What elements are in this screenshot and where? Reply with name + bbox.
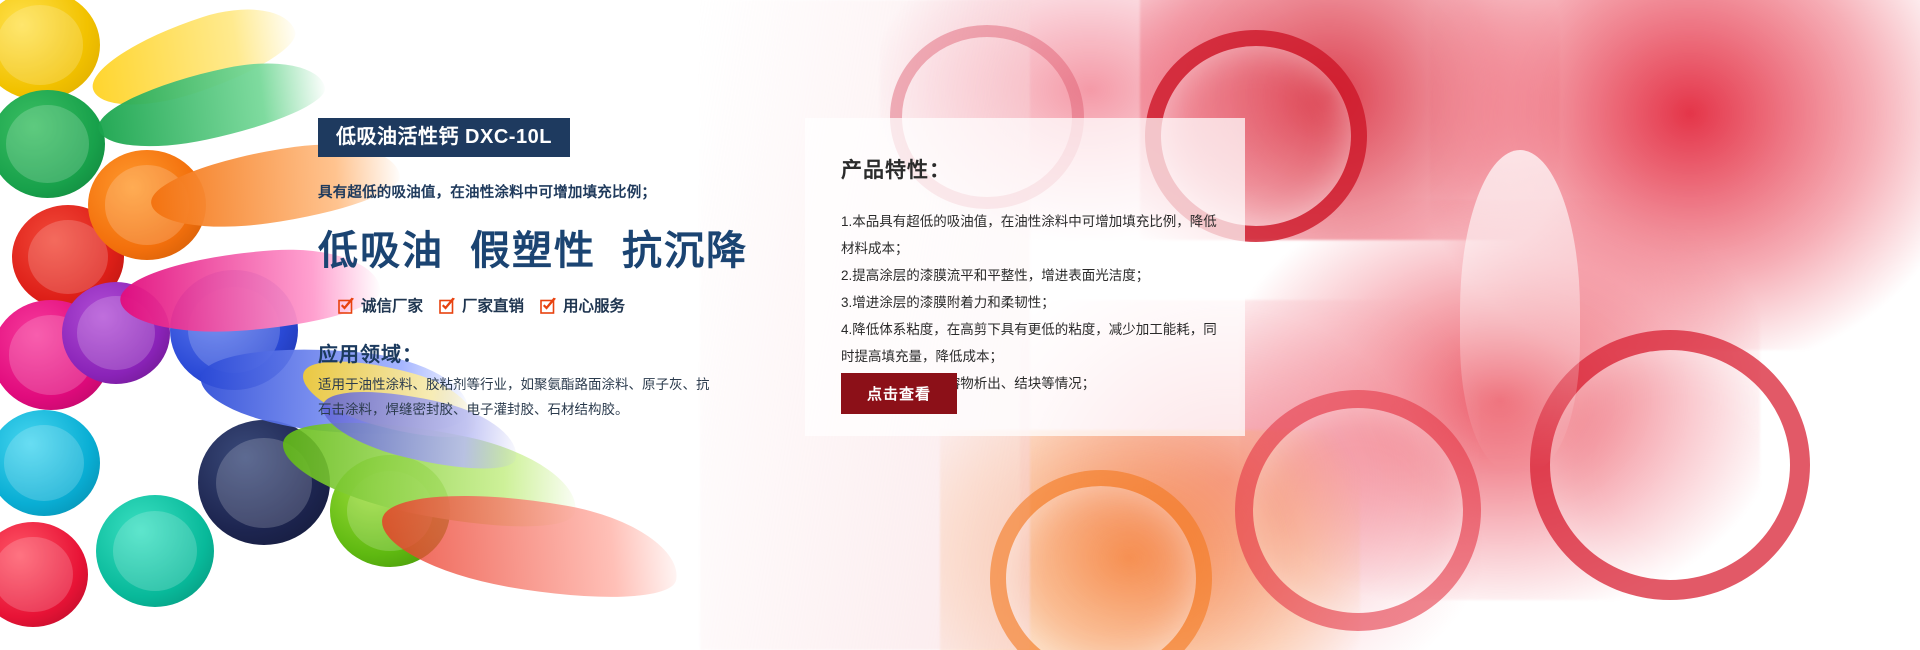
paint-can-teal bbox=[96, 495, 214, 607]
feature-label-1: 诚信厂家 bbox=[361, 294, 423, 316]
paint-can-yellow bbox=[0, 0, 100, 100]
headline-word-2: 假塑性 bbox=[470, 229, 596, 273]
left-content-column: 低吸油活性钙 DXC-10L 具有超低的吸油值，在油性涂料中可增加填充比例； 低… bbox=[318, 118, 738, 423]
headline-word-3: 抗沉降 bbox=[622, 229, 748, 273]
list-item: 1.本品具有超低的吸油值，在油性涂料中可增加填充比例，降低材料成本； bbox=[841, 208, 1219, 262]
paint-drip-white-right bbox=[1460, 150, 1580, 470]
headline-keywords: 低吸油假塑性抗沉降 bbox=[318, 218, 738, 276]
paint-can-navy bbox=[198, 420, 330, 545]
paint-can-orange bbox=[88, 150, 206, 260]
paint-jar-ring-right bbox=[1530, 330, 1810, 600]
list-item: 3.增进涂层的漆膜附着力和柔韧性； bbox=[841, 289, 1219, 316]
feature-item-1: 诚信厂家 bbox=[338, 294, 423, 316]
characteristics-list: 1.本品具有超低的吸油值，在油性涂料中可增加填充比例，降低材料成本； 2.提高涂… bbox=[841, 208, 1219, 397]
product-subtitle: 具有超低的吸油值，在油性涂料中可增加填充比例； bbox=[318, 181, 738, 202]
product-title-badge: 低吸油活性钙 DXC-10L bbox=[318, 118, 570, 157]
checkbox-checked-icon bbox=[439, 297, 456, 314]
view-details-button[interactable]: 点击查看 bbox=[841, 373, 957, 414]
paint-can-crimson bbox=[0, 522, 88, 627]
product-banner: 低吸油活性钙 DXC-10L 具有超低的吸油值，在油性涂料中可增加填充比例； 低… bbox=[0, 0, 1920, 650]
checkbox-checked-icon bbox=[540, 297, 557, 314]
feature-label-3: 用心服务 bbox=[563, 294, 625, 316]
paint-wash-red-right bbox=[1430, 0, 1920, 350]
paint-wash-red-mid bbox=[1240, 200, 1760, 600]
feature-item-2: 厂家直销 bbox=[439, 294, 524, 316]
paint-jar-ring-bottom-mid bbox=[1235, 390, 1481, 631]
feature-label-2: 厂家直销 bbox=[462, 294, 524, 316]
product-characteristics-panel: 产品特性： 1.本品具有超低的吸油值，在油性涂料中可增加填充比例，降低材料成本；… bbox=[805, 118, 1245, 436]
list-item: 4.降低体系粘度，在高剪下具有更低的粘度，减少加工能耗，同时提高填充量，降低成本… bbox=[841, 316, 1219, 370]
paint-stroke-yellow bbox=[82, 0, 303, 123]
paint-can-red bbox=[12, 205, 124, 309]
paint-jar-ring-orange bbox=[990, 470, 1212, 650]
feature-item-3: 用心服务 bbox=[540, 294, 625, 316]
panel-title: 产品特性： bbox=[841, 154, 951, 184]
paint-stroke-red-left bbox=[374, 475, 685, 616]
paint-can-blue bbox=[170, 270, 298, 390]
application-fields-body: 适用于油性涂料、胶粘剂等行业，如聚氨酯路面涂料、原子灰、抗石击涂料，焊缝密封胶、… bbox=[318, 373, 718, 423]
paint-can-purple bbox=[62, 282, 170, 384]
application-fields-title: 应用领域： bbox=[318, 338, 738, 367]
feature-badges-row: 诚信厂家 厂家直销 用心服务 bbox=[318, 294, 738, 316]
headline-word-1: 低吸油 bbox=[318, 229, 444, 273]
checkbox-checked-icon bbox=[338, 297, 355, 314]
list-item: 2.提高涂层的漆膜流平和平整性，增进表面光洁度； bbox=[841, 262, 1219, 289]
paint-can-green bbox=[0, 90, 105, 198]
paint-stroke-green bbox=[92, 49, 331, 161]
paint-can-magenta bbox=[0, 300, 110, 410]
paint-can-cyan bbox=[0, 410, 100, 516]
paint-can-lime bbox=[330, 455, 450, 567]
paint-wash-orange-bottom bbox=[940, 430, 1360, 650]
